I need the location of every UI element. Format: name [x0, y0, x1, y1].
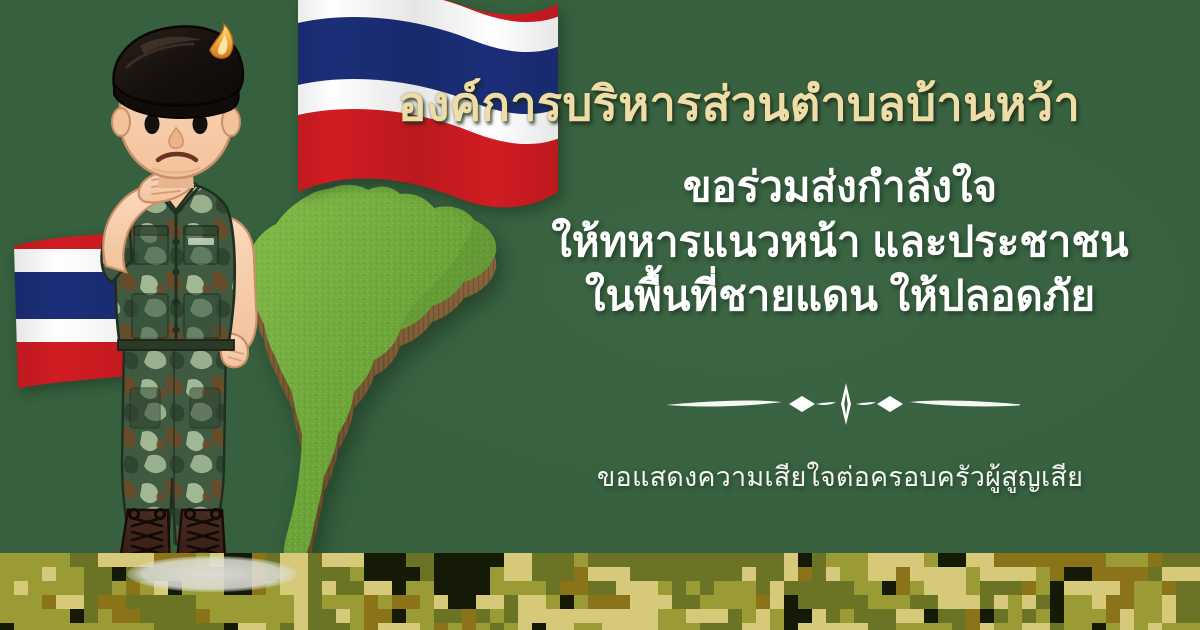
headline-block: ขอร่วมส่งกำลังใจ ให้ทหารแนวหน้า และประชา… [480, 160, 1200, 324]
banner-canvas: องค์การบริหารส่วนตำบลบ้านหว้า ขอร่วมส่งก… [0, 0, 1200, 630]
condolence-text: ขอแสดงความเสียใจต่อครอบครัวผู้สูญเสีย [480, 455, 1200, 498]
ornamental-divider [480, 378, 1200, 430]
page-title: องค์การบริหารส่วนตำบลบ้านหว้า [398, 78, 1198, 130]
headline-line-3: ในพื้นที่ชายแดน ให้ปลอดภัย [480, 269, 1200, 324]
saluting-soldier-illustration [48, 10, 318, 610]
headline-line-2: ให้ทหารแนวหน้า และประชาชน [480, 215, 1200, 270]
headline-line-1: ขอร่วมส่งกำลังใจ [480, 160, 1200, 215]
ground-shadow-ellipse [127, 556, 297, 592]
ornamental-diamond-flourish-divider [660, 381, 1020, 427]
